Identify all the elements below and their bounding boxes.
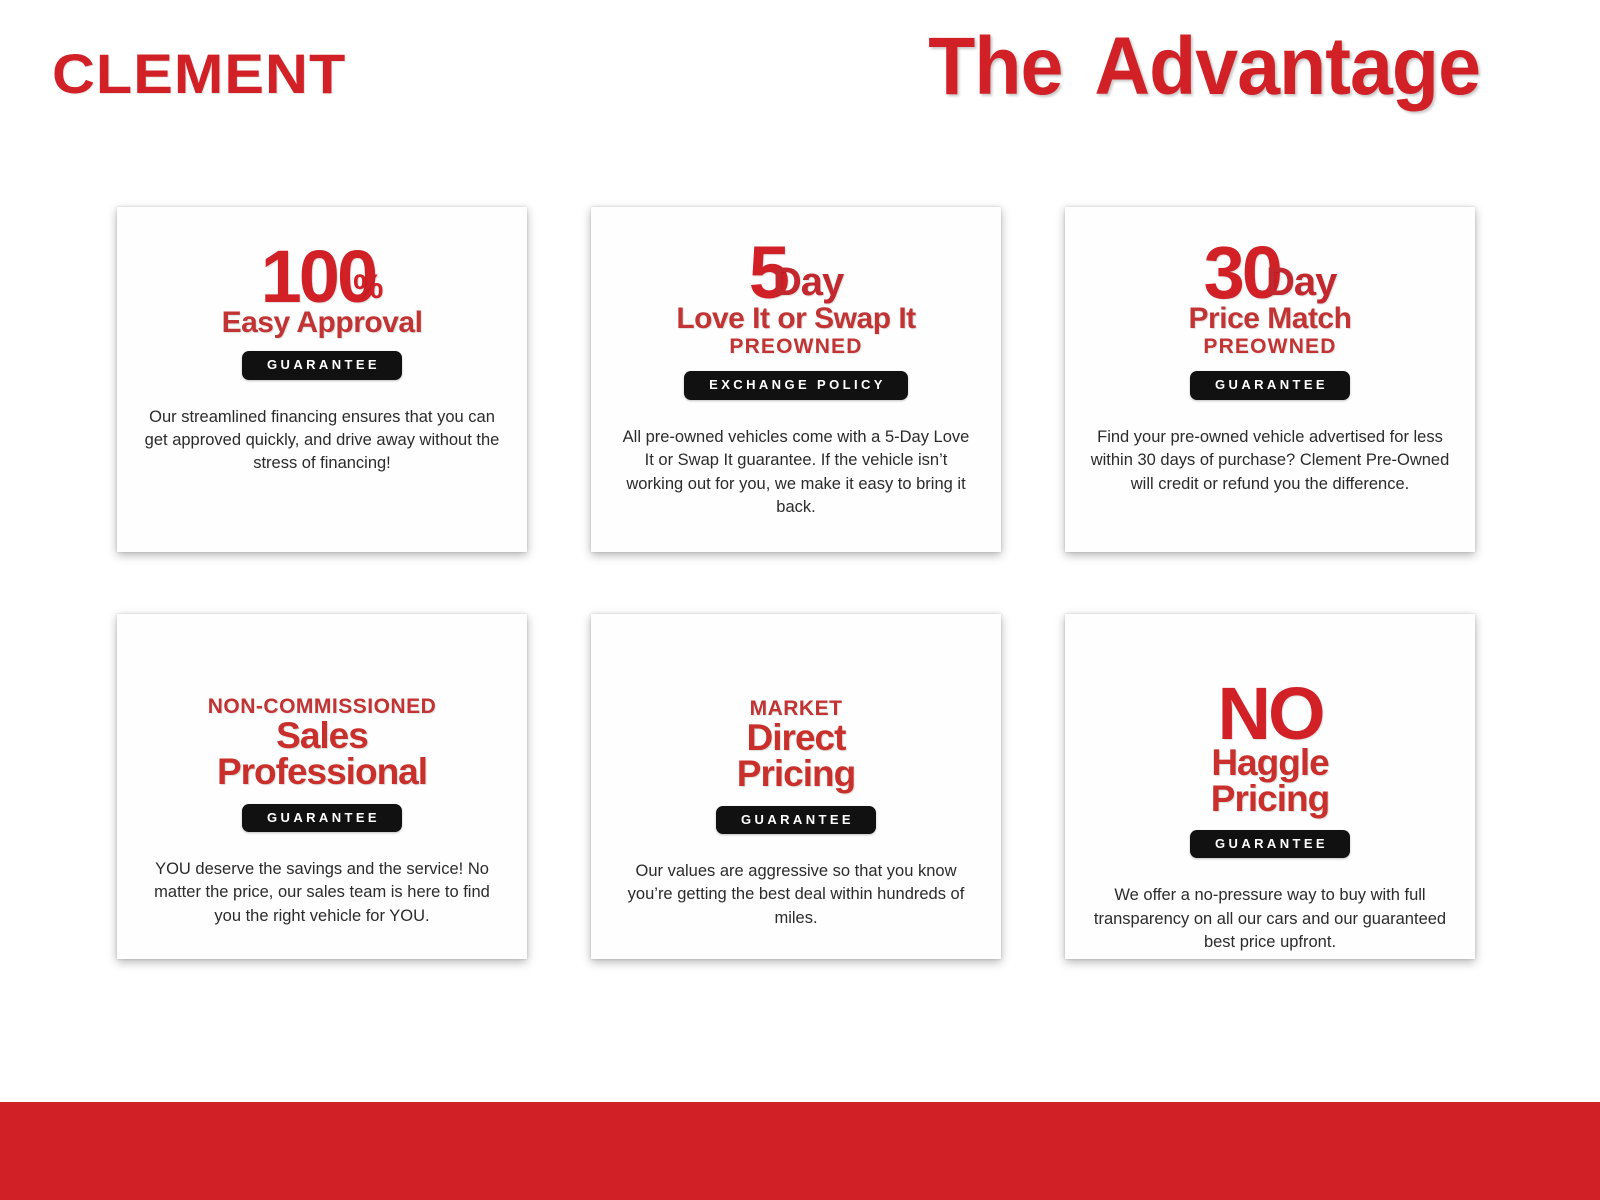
footer-red-bar [0,1102,1600,1200]
card-hero: NON-COMMISSIONED Sales Professional [137,696,507,791]
card-body-text: Our streamlined financing ensures that y… [142,406,502,476]
card-title-line1: Direct [747,720,846,756]
advantage-card-love-it-or-swap-it: 5 Day Love It or Swap It PREOWNED EXCHAN… [591,207,1001,552]
guarantee-badge: GUARANTEE [242,351,402,379]
advantage-card-sales-professional: NON-COMMISSIONED Sales Professional GUAR… [117,614,527,959]
advantage-card-easy-approval: 100 % Easy Approval GUARANTEE Our stream… [117,207,527,552]
clement-logo: CLEMENT [52,46,346,102]
card-title-line1: Sales [276,718,368,754]
card-title-line2: Professional [217,754,427,790]
card-subtitle: PREOWNED [1203,335,1336,358]
card-hero: NO Haggle Pricing [1085,684,1455,817]
card-body-text: Our values are aggressive so that you kn… [616,860,976,930]
percent-symbol: % [353,270,383,304]
card-title: Love It or Swap It [676,304,915,335]
guarantee-badge: GUARANTEE [1190,830,1350,858]
exchange-policy-badge: EXCHANGE POLICY [684,371,908,399]
page-title-word-the: The [928,21,1062,112]
page-title-word-advantage: Advantage [1094,21,1480,112]
guarantee-badge: GUARANTEE [1190,371,1350,399]
headline-lockup: 100 % [261,247,384,308]
advantage-card-no-haggle-pricing: NO Haggle Pricing GUARANTEE We offer a n… [1065,614,1475,959]
card-title-line2: Pricing [1211,781,1329,817]
headline-unit: Day [1266,262,1336,302]
card-title: Price Match [1189,304,1352,335]
card-title: Easy Approval [222,308,423,339]
card-title-line2: Pricing [737,756,855,792]
guarantee-badge: GUARANTEE [716,806,876,834]
card-body-text: We offer a no-pressure way to buy with f… [1090,884,1450,954]
card-body-text: Find your pre-owned vehicle advertised f… [1090,426,1450,496]
headline-lockup: NO [1218,684,1323,745]
card-hero: 100 % Easy Approval [137,247,507,338]
advantage-card-market-direct-pricing: MARKET Direct Pricing GUARANTEE Our valu… [591,614,1001,959]
card-hero: MARKET Direct Pricing [611,698,981,793]
advantage-card-grid: 100 % Easy Approval GUARANTEE Our stream… [117,207,1483,959]
headline-word-no: NO [1218,684,1323,745]
page-title: TheAdvantage [928,26,1480,108]
advantage-card-price-match: 30 Day Price Match PREOWNED GUARANTEE Fi… [1065,207,1475,552]
card-body-text: YOU deserve the savings and the service!… [142,858,502,928]
card-body-text: All pre-owned vehicles come with a 5-Day… [616,426,976,520]
card-hero: 5 Day Love It or Swap It PREOWNED [611,243,981,358]
card-title-line1: Haggle [1211,745,1328,781]
page-header: CLEMENT TheAdvantage [0,0,1600,150]
headline-lockup: 30 Day [1204,243,1337,304]
card-subtitle: PREOWNED [729,335,862,358]
guarantee-badge: GUARANTEE [242,804,402,832]
card-hero: 30 Day Price Match PREOWNED [1085,243,1455,358]
headline-lockup: 5 Day [749,243,844,304]
headline-unit: Day [773,262,843,302]
